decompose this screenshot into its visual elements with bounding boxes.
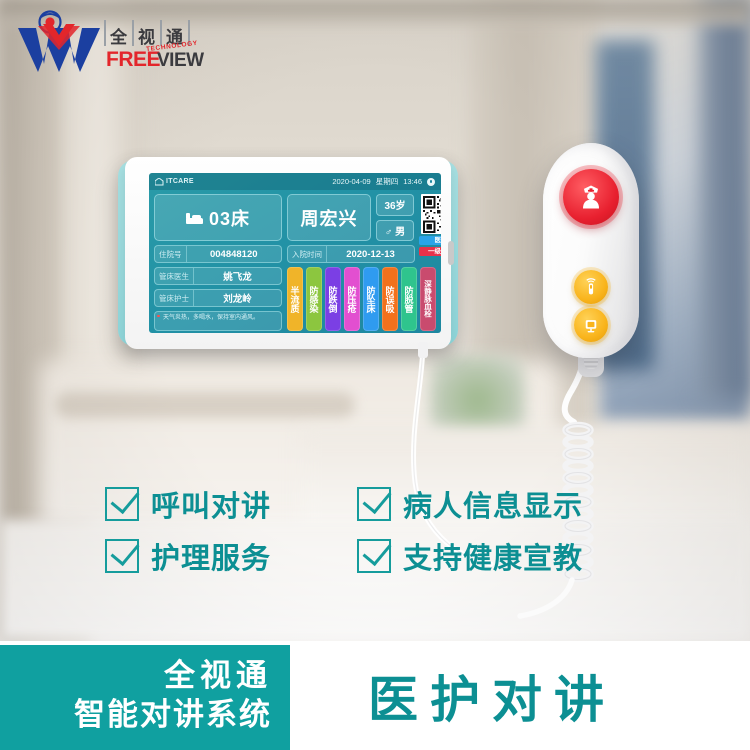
logo-divider: [160, 20, 162, 46]
screen-brand-text: ITCARE: [166, 178, 194, 185]
banner-brand-line: 全视通: [164, 657, 272, 695]
bed-number: 03床: [209, 205, 250, 231]
nurse-call-button[interactable]: [563, 169, 619, 225]
logo-view-text: VIEW: [157, 50, 204, 72]
screen-row-staff-tags: 管床医生 姚飞龙 管床护士 刘龙岭 天气炎热，多喝水，保持室内通风。 半流质: [154, 267, 436, 331]
banner-left-panel: 全视通 智能对讲系统: [0, 641, 290, 750]
field-label: 管床医生: [155, 271, 193, 282]
brand-logo: 全 视 通 FREE VIEW TECHNOLOGY: [18, 10, 193, 76]
gear-icon[interactable]: [427, 178, 435, 186]
screen-row-admission: 住院号 004848120 入院时间 2020-12-13: [154, 245, 436, 263]
checkbox-checked-icon: [105, 539, 139, 573]
field-admission-no[interactable]: 住院号 004848120: [154, 245, 282, 263]
feature-item-call-intercom[interactable]: 呼叫对讲: [105, 483, 271, 525]
screen-content: 03床 周宏兴 36岁 ♂ 男: [154, 194, 436, 328]
screen-brand-logo: ITCARE: [155, 178, 194, 186]
patient-age: 36岁: [376, 194, 414, 216]
banner-top-rule: [0, 641, 750, 645]
bed-card[interactable]: 03床: [154, 194, 282, 241]
feature-row: 护理服务 支持健康宣教: [105, 530, 685, 582]
tv-icon: [582, 316, 600, 334]
screen-status-meta: 2020-04-09 星期四 13:46: [332, 176, 435, 187]
logo-divider: [104, 20, 106, 46]
care-level-badge: 一级护理: [419, 247, 441, 256]
nurse-call-handset: [543, 143, 639, 358]
field-value: 刘龙岭: [193, 290, 281, 306]
health-notice-text: 天气炎热，多喝水，保持室内通风。: [158, 314, 278, 322]
care-tag[interactable]: 半流质: [287, 267, 303, 331]
feature-label: 呼叫对讲: [151, 483, 271, 525]
nurse-icon: [578, 184, 604, 210]
field-admission-date[interactable]: 入院时间 2020-12-13: [287, 245, 415, 263]
care-tag[interactable]: 防跌倒: [325, 267, 341, 331]
field-label: 入院时间: [288, 249, 326, 260]
tablet-side-button[interactable]: [448, 241, 454, 265]
field-value: 004848120: [186, 246, 282, 262]
status-time: 13:46: [403, 177, 422, 186]
feature-row: 呼叫对讲 病人信息显示: [105, 478, 685, 530]
care-tag[interactable]: 防感染: [306, 267, 322, 331]
insurance-badge: 医保: [419, 236, 441, 245]
logo-divider: [132, 20, 134, 46]
banner-title: 医护对讲: [368, 660, 616, 732]
feature-label: 护理服务: [151, 535, 271, 577]
tablet-screen[interactable]: ITCARE 2020-04-09 星期四 13:46 03床: [149, 173, 441, 333]
field-label: 住院号: [155, 249, 186, 260]
field-doctor[interactable]: 管床医生 姚飞龙: [154, 267, 282, 285]
bed-icon: [186, 212, 203, 224]
feature-item-patient-info[interactable]: 病人信息显示: [357, 483, 583, 525]
feature-item-health-education[interactable]: 支持健康宣教: [357, 535, 583, 577]
qr-zone: 医保 一级护理: [419, 194, 441, 241]
care-tag[interactable]: 防坠床: [363, 267, 379, 331]
care-tag[interactable]: 防误吸: [382, 267, 398, 331]
feature-label: 支持健康宣教: [403, 535, 583, 577]
reading-light-button[interactable]: [574, 270, 608, 304]
care-tag[interactable]: 防压疮: [344, 267, 360, 331]
light-icon: [582, 278, 600, 296]
bottom-banner: 全视通 智能对讲系统 医护对讲: [0, 641, 750, 750]
field-value: 2020-12-13: [326, 246, 414, 262]
banner-right-panel: 医护对讲: [290, 641, 750, 750]
staff-column: 管床医生 姚飞龙 管床护士 刘龙岭 天气炎热，多喝水，保持室内通风。: [154, 267, 282, 331]
itcare-mark-icon: [155, 178, 164, 186]
checkbox-checked-icon: [357, 487, 391, 521]
care-tag-list: 半流质 防感染 防跌倒 防压疮 防坠床 防误吸 防脱管 深静脉血栓: [287, 267, 436, 331]
status-weekday: 星期四: [376, 176, 399, 187]
feature-item-nursing-service[interactable]: 护理服务: [105, 535, 271, 577]
logo-cn-1: 全: [110, 23, 128, 48]
patient-name: 周宏兴: [301, 205, 358, 231]
checkbox-checked-icon: [105, 487, 139, 521]
tv-control-button[interactable]: [574, 308, 608, 342]
status-date: 2020-04-09: [332, 177, 370, 186]
checkbox-checked-icon: [357, 539, 391, 573]
health-notice: 天气炎热，多喝水，保持室内通风。: [154, 311, 282, 331]
patient-gender: ♂ 男: [376, 220, 414, 242]
screen-status-bar: ITCARE 2020-04-09 星期四 13:46: [149, 173, 441, 190]
feature-label: 病人信息显示: [403, 483, 583, 525]
care-tag[interactable]: 深静脉血栓: [420, 267, 436, 331]
w-mark-icon: [18, 24, 100, 72]
field-label: 管床护士: [155, 293, 193, 304]
patient-demographics: 36岁 ♂ 男: [376, 194, 414, 241]
field-nurse[interactable]: 管床护士 刘龙岭: [154, 289, 282, 307]
care-tag[interactable]: 防脱管: [401, 267, 417, 331]
field-value: 姚飞龙: [193, 268, 281, 284]
banner-system-line: 智能对讲系统: [74, 696, 272, 734]
bedside-tablet: ITCARE 2020-04-09 星期四 13:46 03床: [118, 157, 458, 349]
patient-qr-code[interactable]: [421, 194, 441, 234]
tablet-bezel: ITCARE 2020-04-09 星期四 13:46 03床: [125, 157, 451, 349]
feature-list: 呼叫对讲 病人信息显示 护理服务 支持健康宣教: [105, 478, 685, 583]
patient-name-card[interactable]: 周宏兴: [287, 194, 371, 241]
screen-row-primary: 03床 周宏兴 36岁 ♂ 男: [154, 194, 436, 241]
